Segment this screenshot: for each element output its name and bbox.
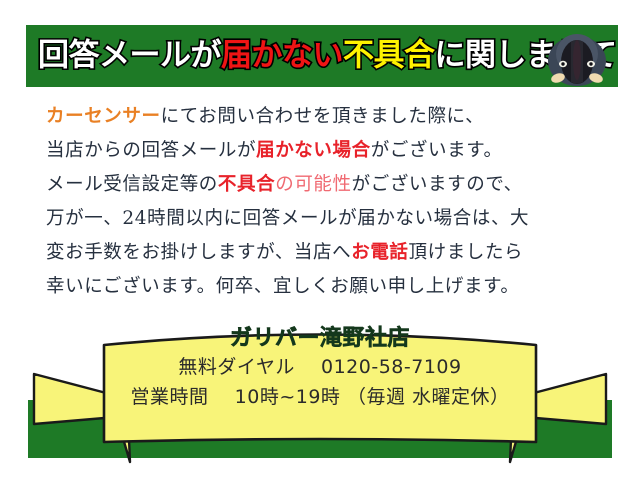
- body-line-6: 幸いにございます。何卒、宜しくお願い申し上げます。: [46, 270, 598, 304]
- closed-note: （毎週 水曜定休）: [347, 386, 510, 408]
- body-run: 幸いにございます。何卒、宜しくお願い申し上げます。: [46, 276, 519, 297]
- free-dial-number: 0120-58-7109: [321, 356, 462, 378]
- body-line-1: カーセンサーにてお問い合わせを頂きました際に、: [46, 100, 598, 134]
- page-title: 回答メールが届かない不具合に関しまして: [38, 41, 617, 72]
- header-banner: 回答メールが届かない不具合に関しまして: [26, 25, 618, 87]
- mole-bug-mascot-icon: [544, 28, 610, 86]
- shop-name: ガリバー滝野社店: [104, 326, 536, 352]
- body-run: 届かない場合: [256, 140, 371, 161]
- body-run: の可能性: [275, 174, 351, 195]
- body-run: カーセンサー: [46, 106, 161, 127]
- body-line-3: メール受信設定等の不具合の可能性がございますので、: [46, 168, 598, 202]
- title-segment-3: 不具合: [343, 38, 435, 74]
- body-run: 変お手数をお掛けしますが、当店へ: [46, 242, 351, 263]
- body-run: 頂けましたら: [409, 242, 524, 263]
- body-line-2: 当店からの回答メールが届かない場合がございます。: [46, 134, 598, 168]
- body-run: 不具合: [218, 174, 275, 195]
- body-line-4: 万が一、24時間以内に回答メールが届かない場合は、大: [46, 202, 598, 236]
- body-run: お電話: [351, 242, 408, 263]
- free-dial-line: 無料ダイヤル 0120-58-7109: [104, 352, 536, 382]
- hours-line: 営業時間 10時~19時 （毎週 水曜定休）: [104, 382, 536, 412]
- body-run: がございます。: [371, 140, 503, 161]
- notice-graphic: 回答メールが届かない不具合に関しまして カーセンサーにてお問い合わせを頂きました…: [0, 0, 640, 480]
- hours-value: 10時~19時: [235, 386, 341, 408]
- ribbon-content: ガリバー滝野社店 無料ダイヤル 0120-58-7109 営業時間 10時~19…: [104, 322, 536, 412]
- title-segment-2: 届かない: [221, 38, 343, 74]
- body-run: 万が一、24時間以内に回答メールが届かない場合は、大: [46, 208, 529, 229]
- body-run: メール受信設定等の: [46, 174, 218, 195]
- body-line-5: 変お手数をお掛けしますが、当店へお電話頂けましたら: [46, 236, 598, 270]
- hours-label: 営業時間: [130, 386, 208, 408]
- body-run: がございますので、: [352, 174, 523, 195]
- body-run: 当店からの回答メールが: [46, 140, 256, 161]
- title-segment-1: 回答メールが: [38, 38, 221, 74]
- body-copy: カーセンサーにてお問い合わせを頂きました際に、 当店からの回答メールが届かない場…: [46, 100, 598, 304]
- body-run: にてお問い合わせを頂きました際に、: [161, 106, 485, 127]
- free-dial-label: 無料ダイヤル: [178, 356, 294, 378]
